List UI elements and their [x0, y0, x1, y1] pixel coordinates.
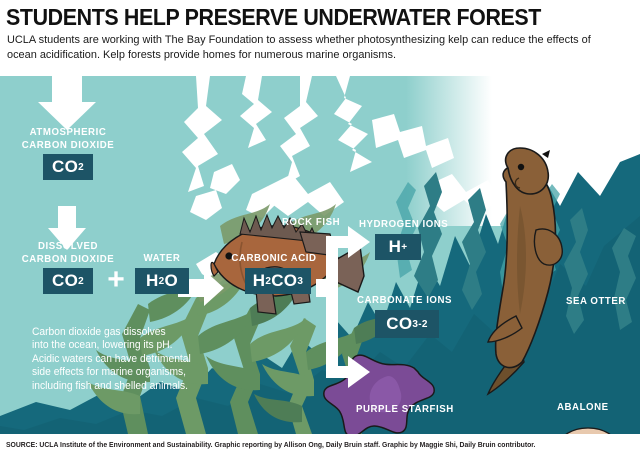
- formula-box-carbonic-acid: H2CO3: [245, 268, 311, 294]
- label-atmospheric: ATMOSPHERIC CARBON DIOXIDE: [5, 126, 130, 151]
- label-carbonate-ions: CARBONATE IONS: [357, 294, 452, 307]
- footer: SOURCE: UCLA Institute of the Environmen…: [0, 434, 640, 458]
- formula-box-atmospheric-co2: CO2: [43, 154, 93, 180]
- label-water: WATER: [133, 252, 192, 265]
- label-rock-fish: ROCK FISH: [282, 216, 340, 229]
- label-hydrogen-ions: HYDROGEN IONS: [359, 218, 448, 231]
- page-subtitle: UCLA students are working with The Bay F…: [7, 33, 595, 62]
- formula-box-carbonate: CO3-2: [375, 310, 439, 338]
- source-credit: SOURCE: UCLA Institute of the Environmen…: [6, 440, 535, 449]
- page-title: STUDENTS HELP PRESERVE UNDERWATER FOREST: [6, 4, 590, 31]
- label-abalone: ABALONE: [557, 401, 609, 414]
- ocean-acidification-caption: Carbon dioxide gas dissolves into the oc…: [32, 326, 236, 393]
- label-dissolved: DISSOLVED CARBON DIOXIDE: [5, 240, 130, 265]
- formula-box-hydrogen: H+: [375, 234, 421, 260]
- label-carbonic-acid: CARBONIC ACID: [226, 252, 322, 265]
- label-sea-otter: SEA OTTER: [566, 295, 626, 308]
- scene-labels: ATMOSPHERIC CARBON DIOXIDE CO2 DISSOLVED…: [0, 76, 640, 434]
- plus-symbol: +: [101, 266, 131, 296]
- header: STUDENTS HELP PRESERVE UNDERWATER FOREST…: [0, 0, 640, 76]
- formula-box-water: H2O: [135, 268, 189, 294]
- infographic-root: STUDENTS HELP PRESERVE UNDERWATER FOREST…: [0, 0, 640, 458]
- formula-box-dissolved-co2: CO2: [43, 268, 93, 294]
- label-purple-starfish: PURPLE STARFISH: [356, 403, 454, 416]
